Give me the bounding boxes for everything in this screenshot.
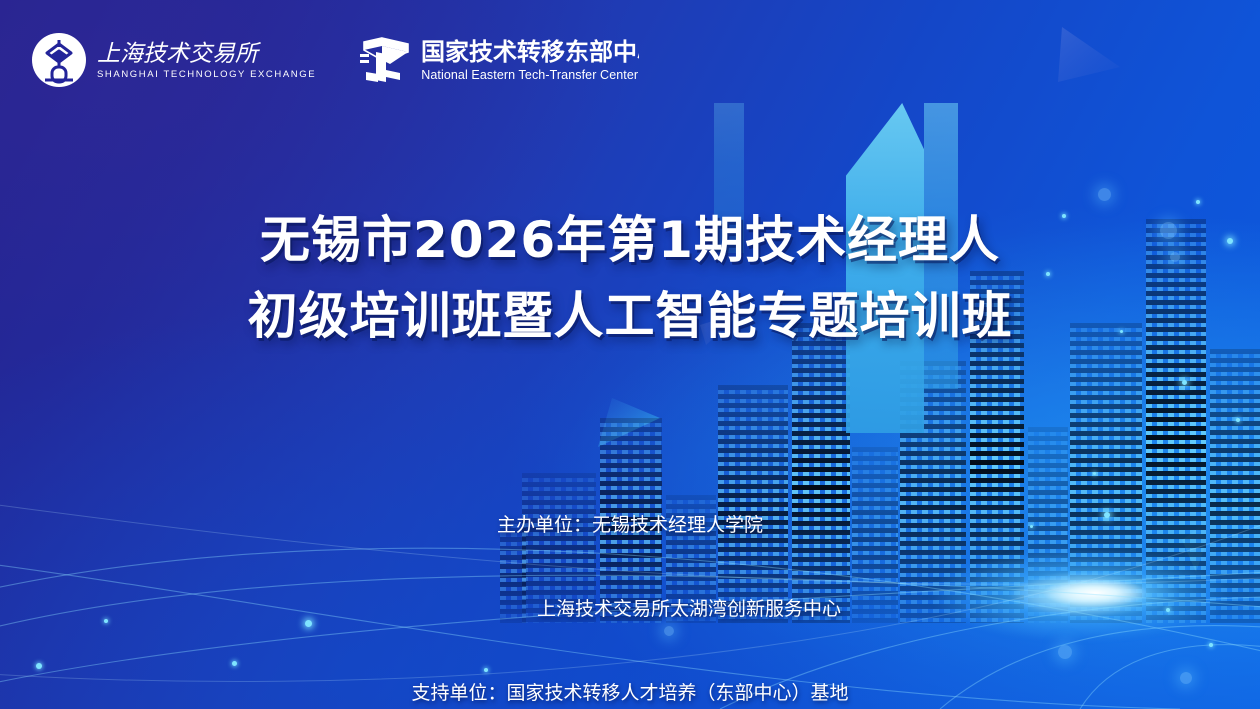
event-title-line-1: 无锡市2026年第1期技术经理人 <box>0 202 1260 278</box>
event-title-line-2: 初级培训班暨人工智能专题培训班 <box>0 278 1260 354</box>
credit-line-co-organizer: 上海技术交易所太湖湾创新服务中心 <box>0 595 1260 623</box>
logo-national-eastern-tech-transfer-center[interactable]: 国家技术转移东部中心 National Eastern Tech-Transfe… <box>352 30 639 90</box>
national-eastern-tech-transfer-center-name-en: National Eastern Tech-Transfer Center <box>421 68 639 82</box>
event-title: 无锡市2026年第1期技术经理人 初级培训班暨人工智能专题培训班 <box>0 202 1260 354</box>
svg-text:国家技术转移东部中心: 国家技术转移东部中心 <box>421 38 639 66</box>
national-eastern-tech-transfer-center-name-cn: 国家技术转移东部中心 <box>421 38 639 66</box>
event-banner: 上海技术交易所 SHANGHAI TECHNOLOGY EXCHANGE <box>0 0 1260 709</box>
shanghai-technology-exchange-emblem-icon <box>30 31 88 89</box>
svg-text:上海技术交易所: 上海技术交易所 <box>97 41 261 66</box>
credit-line-organizer: 主办单位：无锡技术经理人学院 <box>0 511 1260 539</box>
shanghai-technology-exchange-name-en: SHANGHAI TECHNOLOGY EXCHANGE <box>97 69 316 80</box>
logo-shanghai-technology-exchange[interactable]: 上海技术交易所 SHANGHAI TECHNOLOGY EXCHANGE <box>30 31 316 89</box>
logo-bar: 上海技术交易所 SHANGHAI TECHNOLOGY EXCHANGE <box>30 30 639 90</box>
organizer-credits: 主办单位：无锡技术经理人学院 上海技术交易所太湖湾创新服务中心 支持单位：国家技… <box>0 455 1260 709</box>
national-eastern-tech-transfer-center-emblem-icon <box>352 30 412 90</box>
shanghai-technology-exchange-name-cn: 上海技术交易所 <box>97 40 275 66</box>
credit-line-supporter: 支持单位：国家技术转移人才培养（东部中心）基地 <box>0 679 1260 707</box>
